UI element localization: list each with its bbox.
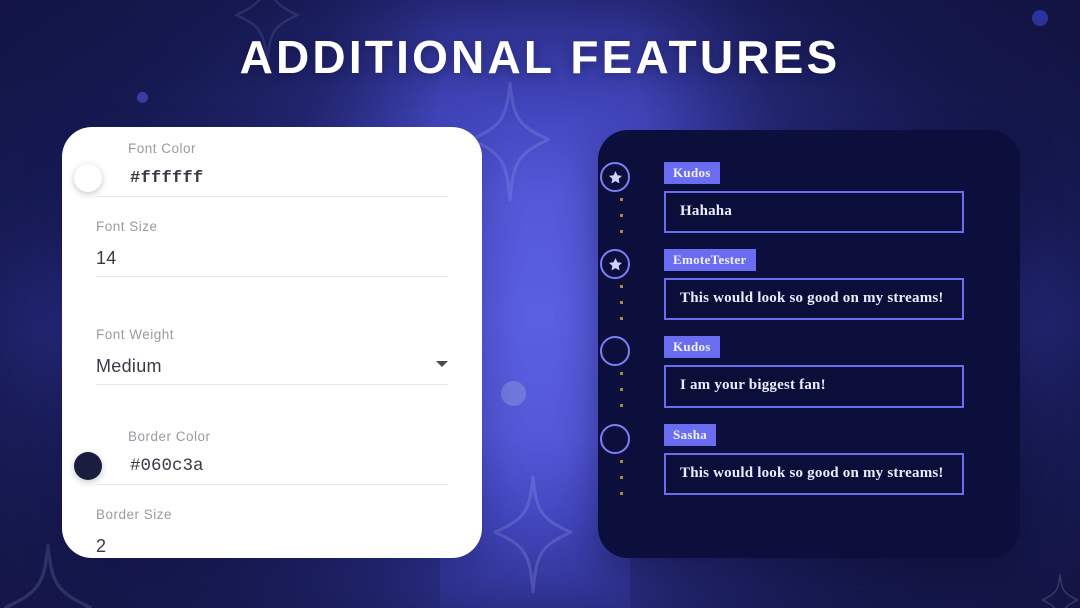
font-color-swatch[interactable] — [74, 164, 102, 192]
gold-dot — [620, 230, 623, 233]
font-weight-dropdown[interactable]: Medium — [96, 348, 448, 384]
chat-message-bubble: I am your biggest fan! — [664, 365, 964, 407]
font-size-value[interactable]: 14 — [96, 248, 117, 269]
gold-dot — [620, 301, 623, 304]
gold-dot — [620, 285, 623, 288]
border-color-swatch[interactable] — [74, 452, 102, 480]
gold-dot — [620, 476, 623, 479]
timestamp-dots — [620, 198, 623, 233]
field-underline — [96, 276, 448, 277]
gold-dot — [620, 372, 623, 375]
chat-message-item: EmoteTesterThis would look so good on my… — [664, 249, 964, 320]
field-font-size: Font Size 14 — [96, 219, 448, 277]
field-font-color: Font Color #ffffff — [96, 141, 448, 197]
chat-username-badge[interactable]: Kudos — [664, 336, 720, 358]
field-label: Font Size — [96, 219, 448, 234]
font-size-input-row[interactable]: 14 — [96, 240, 448, 276]
font-color-input-row[interactable]: #ffffff — [96, 160, 448, 196]
settings-card: Font Color #ffffff Font Size 14 Font Wei… — [62, 127, 482, 558]
slide-canvas: ADDITIONAL FEATURES Font Color #ffffff F… — [0, 0, 1080, 608]
field-underline — [96, 384, 448, 385]
star-badge-icon — [600, 162, 630, 192]
field-underline — [96, 484, 448, 485]
crescent-moon-icon — [600, 336, 630, 366]
gold-dot — [620, 460, 623, 463]
font-color-value[interactable]: #ffffff — [96, 169, 204, 188]
field-border-size: Border Size 2 — [96, 507, 448, 558]
border-size-value[interactable]: 2 — [96, 536, 106, 557]
timestamp-dots — [620, 285, 623, 320]
chevron-down-icon[interactable] — [436, 361, 448, 367]
crescent-moon-icon — [600, 424, 630, 454]
border-size-input-row[interactable]: 2 — [96, 528, 448, 558]
chat-preview-panel: KudosHahahaEmoteTesterThis would look so… — [598, 130, 1020, 558]
chat-message-bubble: This would look so good on my streams! — [664, 278, 964, 320]
border-color-value[interactable]: #060c3a — [96, 456, 204, 476]
gold-dot — [620, 214, 623, 217]
chat-message-item: SashaThis would look so good on my strea… — [664, 424, 964, 495]
chat-username-badge[interactable]: EmoteTester — [664, 249, 756, 271]
chat-message-item: KudosI am your biggest fan! — [664, 336, 964, 407]
border-color-input-row[interactable]: #060c3a — [96, 448, 448, 484]
chat-message-bubble: Hahaha — [664, 191, 964, 233]
field-label: Font Weight — [96, 327, 448, 342]
chat-message-list: KudosHahahaEmoteTesterThis would look so… — [664, 162, 964, 495]
timestamp-dots — [620, 372, 623, 407]
field-font-weight: Font Weight Medium — [96, 327, 448, 385]
gold-dot — [620, 492, 623, 495]
chat-username-badge[interactable]: Sasha — [664, 424, 716, 446]
field-label: Border Color — [96, 429, 448, 444]
field-label: Border Size — [96, 507, 448, 522]
field-underline — [96, 196, 448, 197]
field-border-color: Border Color #060c3a — [96, 429, 448, 485]
star-badge-icon — [600, 249, 630, 279]
chat-message-bubble: This would look so good on my streams! — [664, 453, 964, 495]
chat-message-item: KudosHahaha — [664, 162, 964, 233]
gold-dot — [620, 317, 623, 320]
gold-dot — [620, 388, 623, 391]
field-label: Font Color — [96, 141, 448, 156]
chat-username-badge[interactable]: Kudos — [664, 162, 720, 184]
gold-dot — [620, 404, 623, 407]
gold-dot — [620, 198, 623, 201]
timestamp-dots — [620, 460, 623, 495]
font-weight-value[interactable]: Medium — [96, 356, 162, 377]
page-title: ADDITIONAL FEATURES — [0, 30, 1080, 84]
